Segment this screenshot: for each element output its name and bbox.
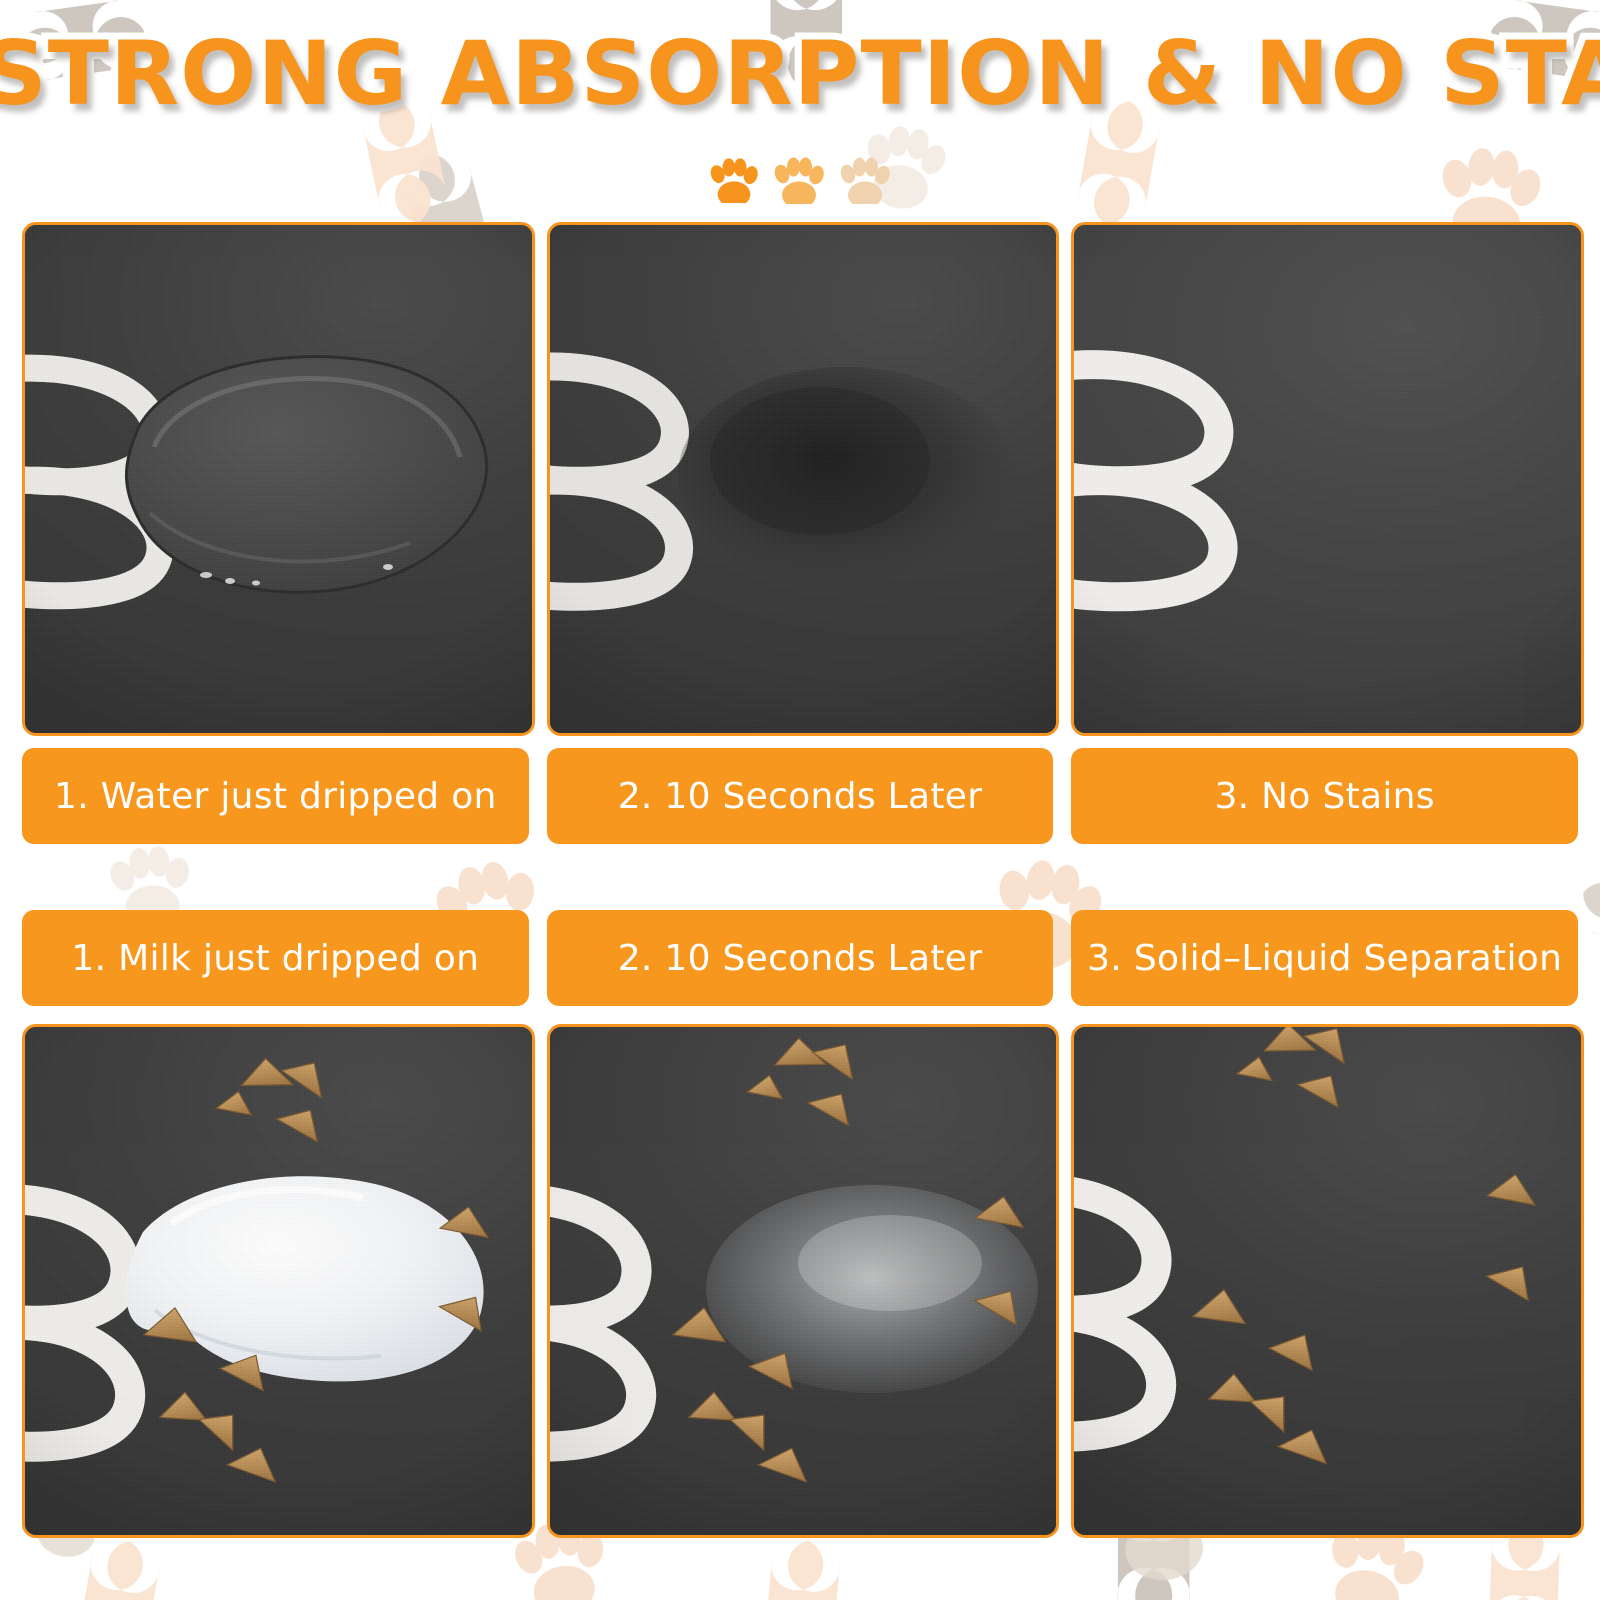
caption-cell: 3. No Stains (1071, 748, 1578, 844)
paw-print-icon (710, 153, 758, 203)
caption-water-1: 1. Water just dripped on (22, 748, 529, 844)
photo-milk-dry (1071, 1024, 1584, 1538)
caption-milk-1: 1. Milk just dripped on (22, 910, 529, 1006)
caption-milk-2: 2. 10 Seconds Later (547, 910, 1054, 1006)
page-title: STRONG ABSORPTION & NO STAINS (0, 22, 1600, 125)
paw-print-icon (774, 152, 824, 204)
panel-milk-ten-seconds (547, 1024, 1054, 1532)
caption-water-3: 3. No Stains (1071, 748, 1578, 844)
photo-vignette (550, 1027, 1057, 1535)
panel-water-no-stains (1071, 222, 1578, 730)
caption-milk-3: 3. Solid–Liquid Separation (1071, 910, 1578, 1006)
photo-water-dry (1071, 222, 1584, 736)
caption-water-2: 2. 10 Seconds Later (547, 748, 1054, 844)
photo-water-fresh (22, 222, 535, 736)
caption-cell: 1. Water just dripped on (22, 748, 529, 844)
photo-vignette (550, 225, 1057, 733)
panel-milk-separation (1071, 1024, 1578, 1532)
photo-vignette (25, 1027, 532, 1535)
photo-milk-fresh (22, 1024, 535, 1538)
photo-water-absorbing (547, 222, 1060, 736)
milk-photo-row (22, 1024, 1578, 1532)
photo-vignette (1074, 225, 1581, 733)
panel-milk-just-dripped (22, 1024, 529, 1532)
comparison-grid: 1. Water just dripped on 2. 10 Seconds L… (22, 222, 1578, 1532)
page-title-wrapper: STRONG ABSORPTION & NO STAINS (0, 22, 1600, 125)
photo-vignette (1074, 1027, 1581, 1535)
paw-print-icon (840, 152, 890, 204)
water-photo-row (22, 222, 1578, 730)
milk-caption-row: 1. Milk just dripped on 2. 10 Seconds La… (22, 910, 1578, 1006)
water-caption-row: 1. Water just dripped on 2. 10 Seconds L… (22, 748, 1578, 844)
caption-cell: 2. 10 Seconds Later (547, 748, 1054, 844)
paw-divider (0, 152, 1600, 212)
caption-cell: 2. 10 Seconds Later (547, 910, 1054, 1006)
caption-cell: 1. Milk just dripped on (22, 910, 529, 1006)
panel-water-ten-seconds (547, 222, 1054, 730)
photo-milk-absorbing (547, 1024, 1060, 1538)
photo-vignette (25, 225, 532, 733)
panel-water-just-dripped (22, 222, 529, 730)
caption-cell: 3. Solid–Liquid Separation (1071, 910, 1578, 1006)
